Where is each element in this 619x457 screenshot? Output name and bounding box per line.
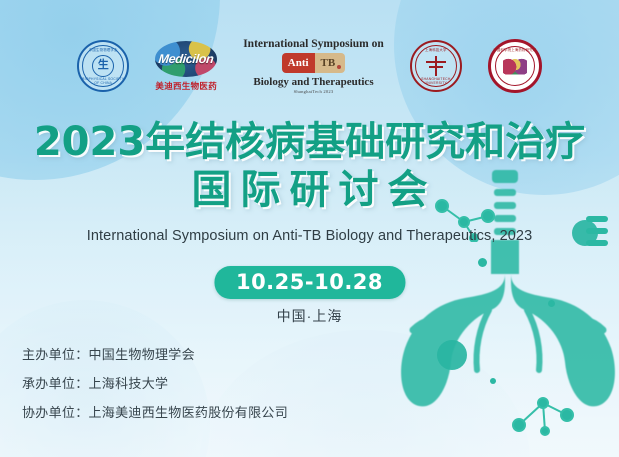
organizer-list: 主办单位：中国生物物理学会 承办单位：上海科技大学 协办单位：上海美迪西生物医药… [22, 340, 288, 427]
organizer-line: 协办单位：上海美迪西生物医药股份有限公司 [22, 398, 288, 427]
logo-strip: 中国生物物理学会 生 BIOPHYSICAL SOCIETY OF CHINA … [0, 30, 619, 102]
medicilon-wordmark: Medicilon [155, 52, 217, 66]
symposium-line-4: ShanghaiTech 2023 [294, 89, 334, 94]
tower-glyph-icon [435, 56, 437, 76]
seal-top-text: 中国科学院上海药物研究所 [491, 47, 539, 52]
institute-crest-seal-icon: 中国科学院上海药物研究所 [488, 39, 542, 93]
poster-title-line-2: 国际研讨会 [0, 166, 619, 214]
biophysical-society-seal-icon: 中国生物物理学会 生 BIOPHYSICAL SOCIETY OF CHINA [77, 40, 129, 92]
anti-tb-badge-right: TB [315, 53, 346, 73]
event-location: 中国·上海 [0, 306, 619, 326]
logo-institute-crest: 中国科学院上海药物研究所 [488, 39, 542, 93]
anti-tb-badge: Anti TB [282, 53, 345, 73]
organizer-line: 主办单位：中国生物物理学会 [22, 340, 288, 369]
medicilon-caption: 美迪西生物医药 [155, 80, 217, 92]
symposium-line-1: International Symposium on [243, 38, 384, 51]
logo-shanghaitech-university: 上海科技大学 SHANGHAITECH UNIVERSITY [410, 40, 462, 92]
decor-dot-small-3 [490, 378, 496, 384]
seal-bottom-text: BIOPHYSICAL SOCIETY OF CHINA [79, 77, 127, 85]
logo-biophysical-society-of-china: 中国生物物理学会 生 BIOPHYSICAL SOCIETY OF CHINA [77, 40, 129, 92]
decor-dot-small-1 [478, 258, 487, 267]
event-date-badge: 10.25-10.28 [214, 266, 405, 299]
seal-top-text: 中国生物物理学会 [79, 47, 127, 52]
conference-poster: 中国生物物理学会 生 BIOPHYSICAL SOCIETY OF CHINA … [0, 0, 619, 457]
decor-dot-large-left [437, 340, 467, 370]
logo-symposium: International Symposium on Anti TB Biolo… [243, 38, 384, 94]
medicilon-logo-icon: Medicilon [155, 41, 217, 77]
poster-title-line-1: 2023年结核病基础研究和治疗 [0, 118, 619, 166]
molecule-nodes-icon-2 [505, 385, 595, 440]
symposium-line-3: Biology and Therapeutics [253, 76, 373, 88]
title-block: 2023年结核病基础研究和治疗 国际研讨会 [0, 118, 619, 214]
crest-glyph-icon [503, 58, 527, 75]
event-date-text: 10.25-10.28 [236, 270, 383, 294]
seal-bottom-text: SHANGHAITECH UNIVERSITY [412, 77, 460, 85]
organizer-line: 承办单位：上海科技大学 [22, 369, 288, 398]
seal-center-glyph: 生 [92, 55, 114, 77]
seal-top-text: 上海科技大学 [412, 47, 460, 52]
poster-subtitle: International Symposium on Anti-TB Biolo… [0, 228, 619, 244]
logo-medicilon: Medicilon 美迪西生物医药 [155, 41, 217, 92]
shanghaitech-seal-icon: 上海科技大学 SHANGHAITECH UNIVERSITY [410, 40, 462, 92]
anti-tb-badge-left: Anti [282, 53, 315, 73]
